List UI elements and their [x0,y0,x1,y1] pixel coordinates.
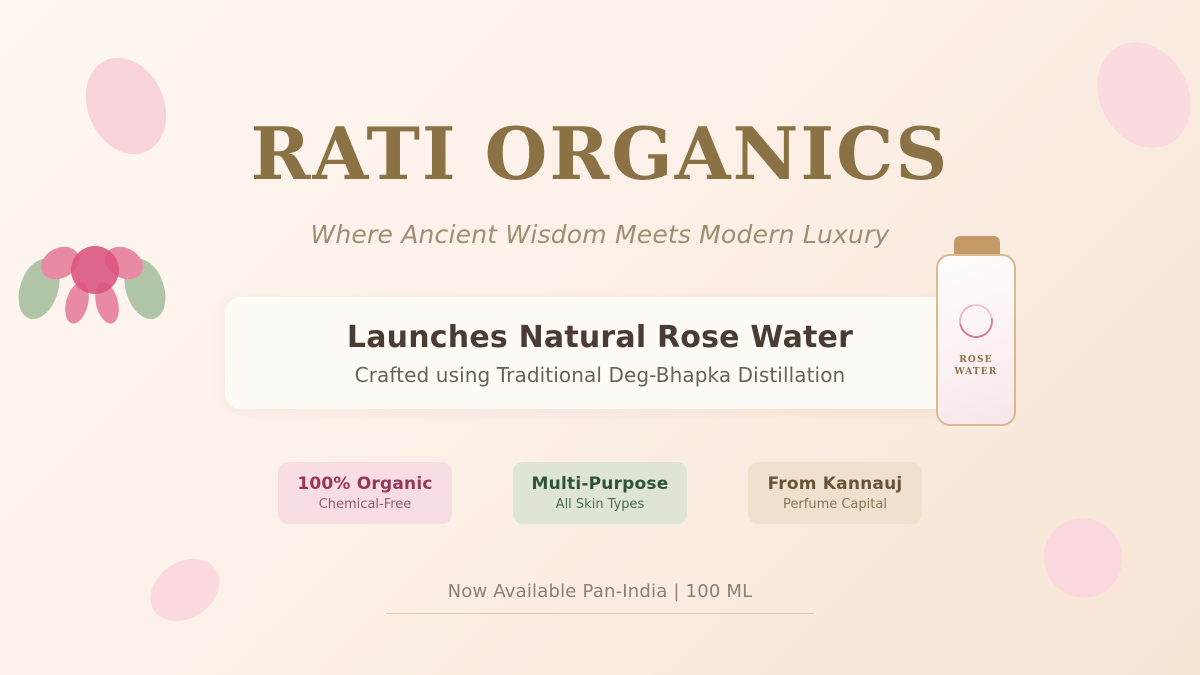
brand-title: RATI ORGANICS [0,118,1200,190]
feature-pill-kannauj-subtitle: Perfume Capital [783,497,887,512]
announcement-card: Launches Natural Rose Water Crafted usin… [225,297,975,409]
rose-ring-icon [952,297,999,344]
feature-pill-multi-purpose: Multi-Purpose All Skin Types [513,462,687,524]
feature-pill-multi-purpose-title: Multi-Purpose [532,474,669,494]
bottle-label-line2: WATER [938,366,1014,378]
rose-center-icon [71,246,119,294]
availability-text: Now Available Pan-India | 100 ML [0,581,1200,602]
feature-pill-organic-subtitle: Chemical-Free [319,497,412,512]
footer-divider [386,613,814,614]
bottle-body-icon: ROSE WATER [936,254,1016,426]
feature-pill-multi-purpose-subtitle: All Skin Types [556,497,645,512]
promo-poster: RATI ORGANICS Where Ancient Wisdom Meets… [0,0,1200,675]
feature-pill-organic-title: 100% Organic [297,474,432,494]
feature-pill-kannauj: From Kannauj Perfume Capital [748,462,922,524]
feature-pill-kannauj-title: From Kannauj [768,474,903,494]
feature-pill-organic: 100% Organic Chemical-Free [278,462,452,524]
announcement-headline: Launches Natural Rose Water [347,320,853,355]
bottle-label: ROSE WATER [938,354,1014,378]
rose-flower-icon [18,234,168,334]
feature-pill-group: 100% Organic Chemical-Free Multi-Purpose… [0,462,1200,524]
bottle-label-line1: ROSE [938,354,1014,366]
brand-tagline: Where Ancient Wisdom Meets Modern Luxury [0,220,1200,249]
announcement-subheadline: Crafted using Traditional Deg-Bhapka Dis… [355,363,846,387]
product-bottle-icon: ROSE WATER [932,236,1016,422]
